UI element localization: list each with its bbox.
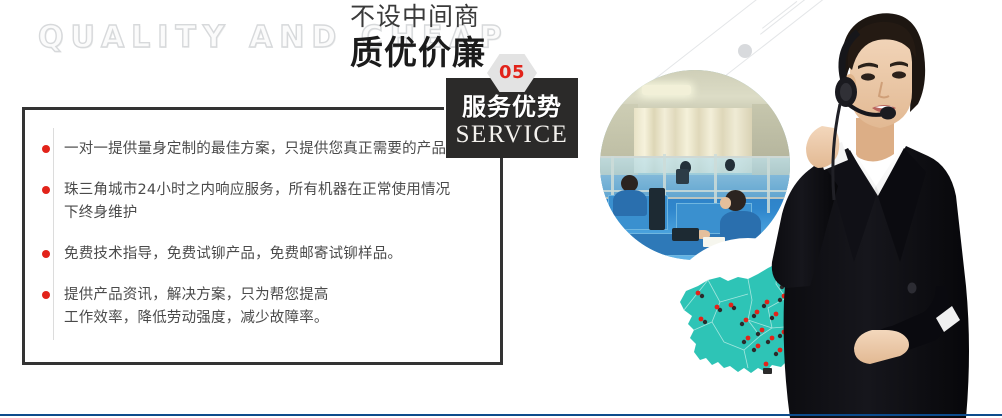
bullet-dot-icon: [42, 186, 50, 194]
customer-service-agent: [760, 0, 1002, 418]
jacket-button: [908, 283, 917, 294]
list-item-text: 珠三角城市24小时之内响应服务，所有机器在正常使用情况 下终身维护: [64, 179, 478, 225]
agent-eye-right: [892, 71, 906, 78]
list-item-line: 下终身维护: [64, 202, 478, 225]
bottom-divider: [0, 414, 1002, 416]
bullet-dot-icon: [42, 291, 50, 299]
list-item-text: 提供产品资讯，解决方案，只为帮您提高 工作效率，降低劳动强度，减少故障率。: [64, 284, 478, 330]
decorative-dot: [738, 44, 752, 58]
headline-main: 质优价廉: [350, 36, 486, 69]
list-item-text: 一对一提供量身定制的最佳方案，只提供您真正需要的产品: [64, 138, 478, 161]
list-item-line: 工作效率，降低劳动强度，减少故障率。: [64, 307, 478, 330]
headline-subtitle: 不设中间商: [350, 2, 480, 31]
service-advantage-banner: QUALITY AND CHEAP 不设中间商 质优价廉 一对一提供量身定制的最…: [0, 0, 1002, 418]
page-title: 不设中间商 质优价廉: [350, 4, 486, 69]
list-item-line: 珠三角城市24小时之内响应服务，所有机器在正常使用情况: [64, 179, 478, 202]
bullet-dot-icon: [42, 250, 50, 258]
list-item: 提供产品资讯，解决方案，只为帮您提高 工作效率，降低劳动强度，减少故障率。: [38, 284, 478, 330]
list-item: 免费技术指导，免费试铆产品，免费邮寄试铆样品。: [38, 243, 478, 266]
badge-title-cn: 服务优势: [446, 87, 578, 122]
list-item: 一对一提供量身定制的最佳方案，只提供您真正需要的产品: [38, 138, 478, 161]
list-item-line: 提供产品资讯，解决方案，只为帮您提高: [64, 284, 478, 307]
list-item: 珠三角城市24小时之内响应服务，所有机器在正常使用情况 下终身维护: [38, 179, 478, 225]
list-item-line: 免费技术指导，免费试铆产品，免费邮寄试铆样品。: [64, 243, 478, 266]
list-item-text: 免费技术指导，免费试铆产品，免费邮寄试铆样品。: [64, 243, 478, 266]
bullet-dot-icon: [42, 145, 50, 153]
agent-eye-left: [861, 73, 875, 80]
list-item-line: 一对一提供量身定制的最佳方案，只提供您真正需要的产品: [64, 138, 478, 161]
badge-title-en: SERVICE: [446, 121, 578, 149]
advantages-list: 一对一提供量身定制的最佳方案，只提供您真正需要的产品 珠三角城市24小时之内响应…: [38, 138, 478, 348]
badge-number: 05: [499, 62, 525, 83]
headset-microphone: [880, 107, 896, 120]
